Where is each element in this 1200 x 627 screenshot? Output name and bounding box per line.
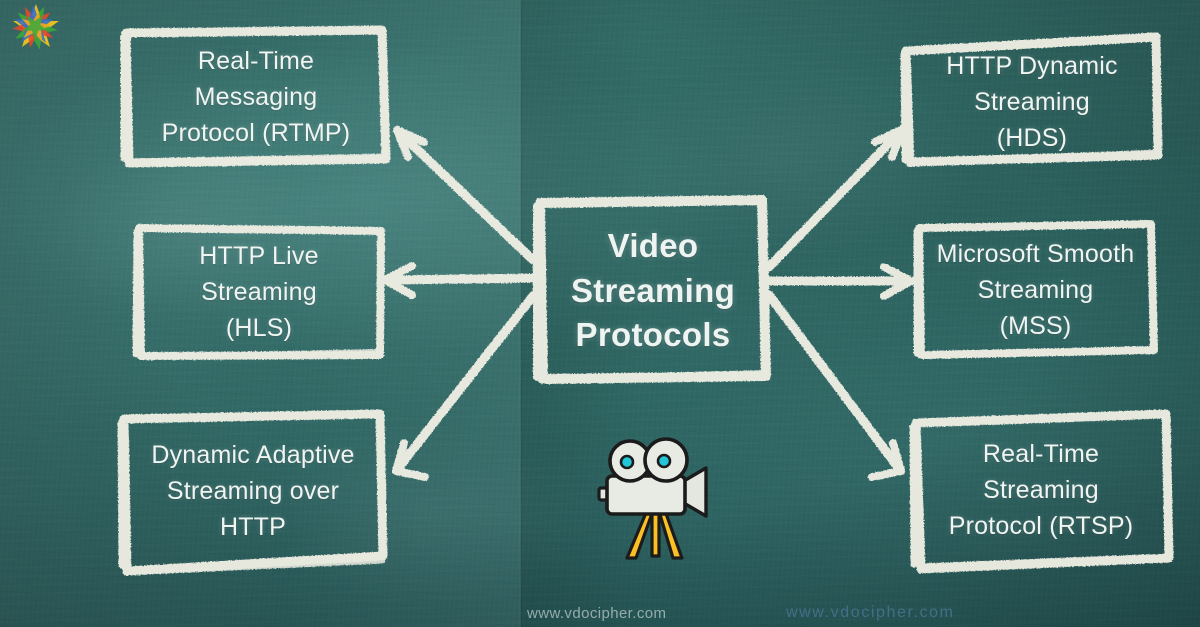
node-rtsp-line-3: Protocol (RTSP)	[949, 508, 1134, 544]
chalkboard-panel-seam	[519, 0, 522, 627]
node-hls-line-2: Streaming	[199, 274, 318, 310]
node-rtsp-line-2: Streaming	[949, 472, 1134, 508]
node-mss: Microsoft Smooth Streaming (MSS)	[917, 226, 1154, 354]
infographic-canvas: Video Streaming Protocols Real-Time Mess…	[0, 0, 1200, 627]
node-mss-line-2: Streaming	[937, 272, 1135, 308]
node-rtmp-line-2: Messaging	[162, 79, 351, 115]
node-rtsp-line-1: Real-Time	[949, 436, 1134, 472]
node-mss-line-3: (MSS)	[937, 308, 1135, 344]
node-hls: HTTP Live Streaming (HLS)	[137, 228, 381, 356]
node-mss-line-1: Microsoft Smooth	[937, 236, 1135, 272]
hub-line-1: Video	[571, 224, 735, 269]
node-hds-line-1: HTTP Dynamic	[946, 48, 1117, 84]
node-hls-line-3: (HLS)	[199, 310, 318, 346]
watermark-secondary: www.vdocipher.com	[786, 604, 955, 622]
hub-line-3: Protocols	[571, 313, 735, 358]
node-rtmp-line-1: Real-Time	[162, 43, 351, 79]
watermark-primary[interactable]: www.vdocipher.com	[527, 605, 666, 622]
node-rtsp: Real-Time Streaming Protocol (RTSP)	[916, 419, 1166, 561]
node-hds-line-3: (HDS)	[946, 120, 1117, 156]
node-dash-line-1: Dynamic Adaptive	[151, 437, 354, 473]
hub-box: Video Streaming Protocols	[540, 203, 766, 379]
movie-camera-icon	[596, 430, 716, 562]
node-hds-line-2: Streaming	[946, 84, 1117, 120]
node-hds: HTTP Dynamic Streaming (HDS)	[906, 42, 1158, 162]
hub-line-2: Streaming	[571, 269, 735, 314]
node-hls-line-1: HTTP Live	[199, 238, 318, 274]
node-rtmp-line-3: Protocol (RTMP)	[162, 115, 351, 151]
vdocipher-logo[interactable]	[9, 0, 63, 52]
node-dash-line-3: HTTP	[151, 509, 354, 545]
node-rtmp: Real-Time Messaging Protocol (RTMP)	[126, 33, 386, 161]
node-dash-line-2: Streaming over	[151, 473, 354, 509]
node-dash: Dynamic Adaptive Streaming over HTTP	[124, 420, 382, 562]
